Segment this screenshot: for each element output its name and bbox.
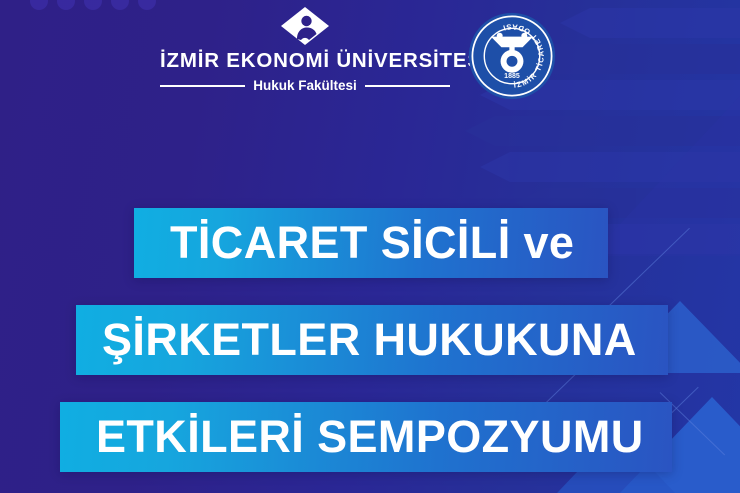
poster-canvas: İZMİR EKONOMİ ÜNİVERSİTESİ Hukuk Fakülte…: [0, 0, 740, 493]
title-band-group: TİCARET SİCİLİ ve ŞİRKETLER HUKUKUNA ETK…: [0, 0, 740, 493]
title-line-1: TİCARET SİCİLİ ve: [134, 217, 574, 269]
title-band-1: TİCARET SİCİLİ ve: [134, 208, 608, 278]
title-band-3: ETKİLERİ SEMPOZYUMU: [60, 402, 672, 472]
title-line-2: ŞİRKETLER HUKUKUNA: [76, 314, 637, 366]
title-band-2: ŞİRKETLER HUKUKUNA: [76, 305, 668, 375]
title-line-3: ETKİLERİ SEMPOZYUMU: [60, 411, 644, 463]
